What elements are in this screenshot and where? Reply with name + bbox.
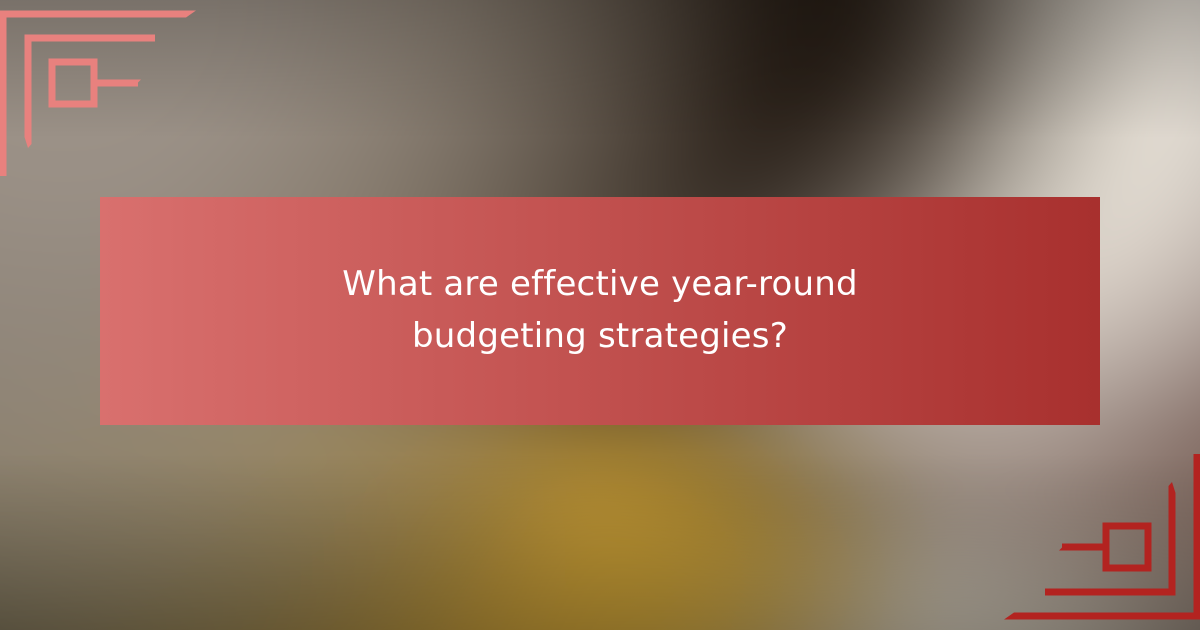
caption-banner: What are effective year-round budgeting … — [100, 197, 1100, 425]
banner-title: What are effective year-round budgeting … — [250, 259, 950, 362]
social-card: What are effective year-round budgeting … — [0, 0, 1200, 630]
